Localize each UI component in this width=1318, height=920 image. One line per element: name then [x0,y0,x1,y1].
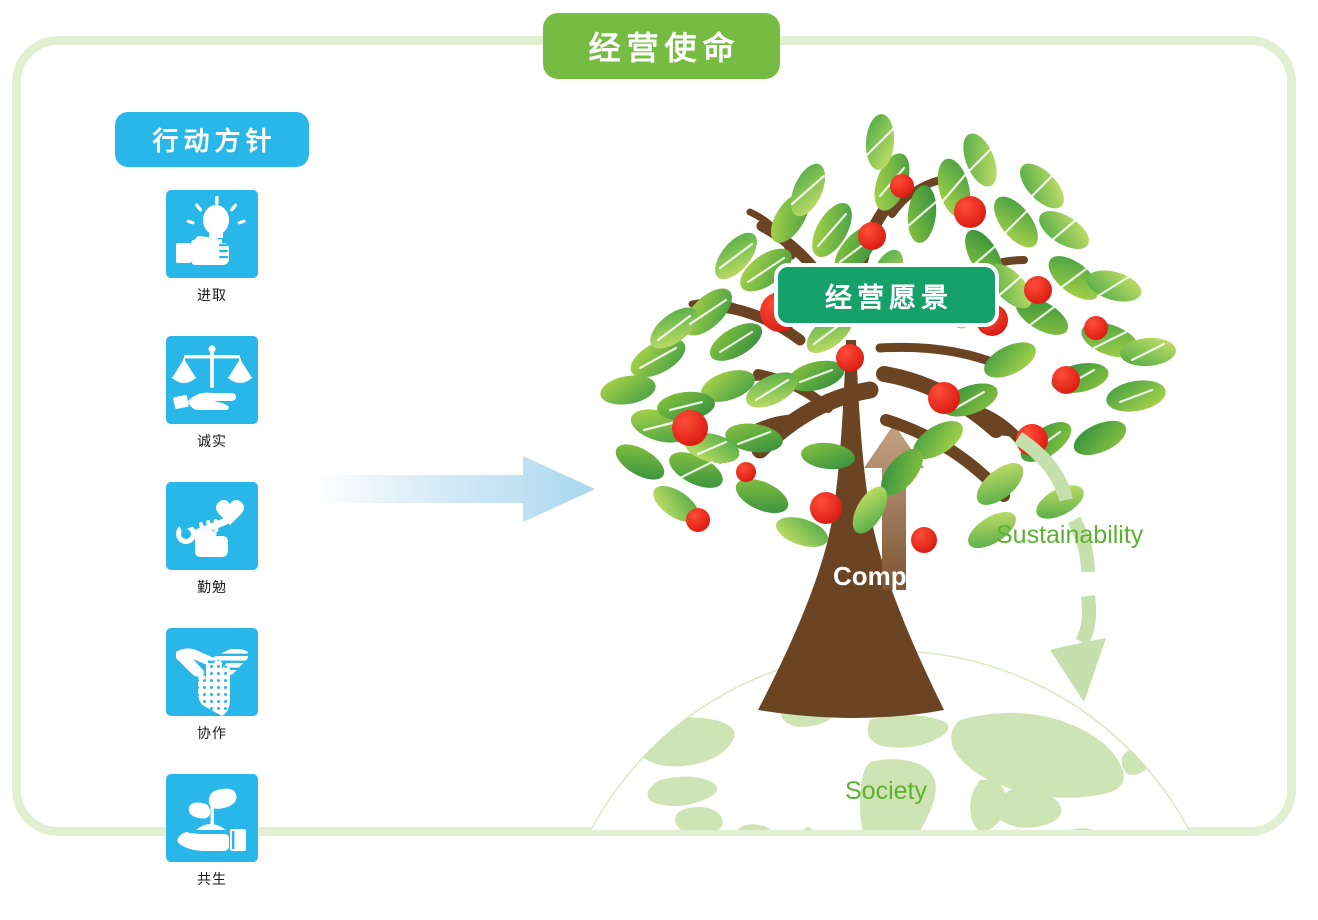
guideline-label: 共生 [166,869,258,889]
tree-illustration [540,90,1240,830]
company-label: Company [833,561,951,592]
sustainability-arrow-head [1050,638,1106,702]
mission-title-badge: 经营使命 [543,13,780,79]
action-guidelines-badge: 行动方针 [115,112,309,167]
society-label: Society [845,777,927,806]
guideline-label: 诚实 [166,431,258,451]
guideline-label: 勤勉 [166,577,258,597]
three-joined-hands-icon [166,628,258,716]
guideline-tile [166,774,258,862]
guideline-item-jinqu[interactable]: 进取 [166,190,258,305]
hand-holding-wrench-heart-icon [166,482,258,570]
hand-holding-sprout-icon [166,774,258,862]
guideline-item-xiezuo[interactable]: 协作 [166,628,258,743]
guideline-label: 进取 [166,285,258,305]
guideline-item-gongsheng[interactable]: 共生 [166,774,258,889]
guideline-tile [166,482,258,570]
guideline-tile [166,190,258,278]
guideline-tile [166,336,258,424]
guideline-list: 进取 [166,190,258,920]
guideline-label: 协作 [166,723,258,743]
balance-scale-on-hand-icon [166,336,258,424]
vision-badge: 经营愿景 [774,263,999,327]
hand-holding-lightbulb-icon [166,190,258,278]
mission-title-label: 经营使命 [582,23,740,69]
sustainability-label: Sustainability [996,521,1143,550]
guideline-item-qinmian[interactable]: 勤勉 [166,482,258,597]
guideline-tile [166,628,258,716]
guideline-item-chengshi[interactable]: 诚实 [166,336,258,451]
vision-label: 经营愿景 [820,276,953,315]
action-guidelines-label: 行动方针 [147,121,276,158]
